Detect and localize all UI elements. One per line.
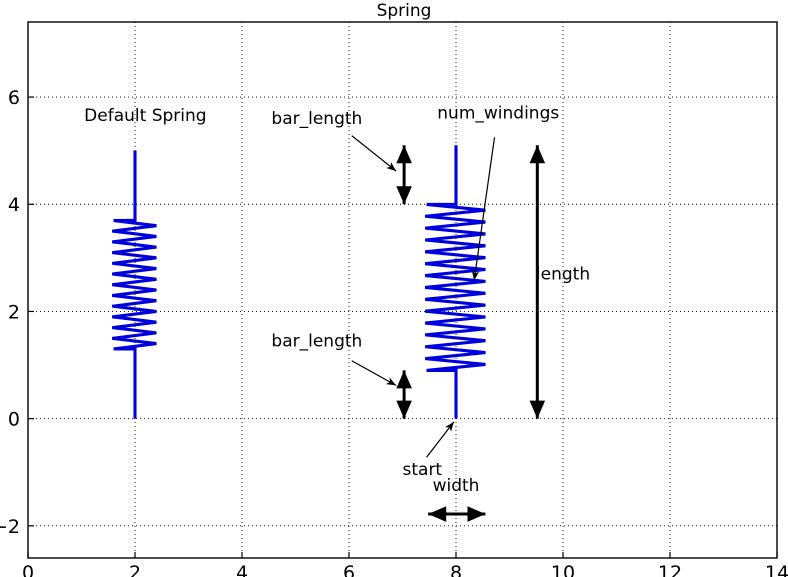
figure-canvas: 02468101214−20246 Default Springbar_leng…: [0, 0, 788, 577]
leader-bar-length-bottom: [352, 361, 396, 386]
annotation-labels: Default Springbar_lengthnum_windingsleng…: [84, 103, 590, 496]
y-tick-label: 6: [8, 87, 20, 109]
x-tick-label: 0: [22, 562, 34, 577]
y-tick-label: 4: [8, 194, 20, 216]
width-label: width: [433, 476, 480, 496]
y-tick-label: 0: [8, 409, 20, 431]
spring-default-spring: [114, 151, 157, 419]
x-tick-label: 6: [343, 562, 355, 577]
x-tick-label: 12: [658, 562, 682, 577]
length-label: length: [536, 264, 590, 284]
x-tick-label: 10: [551, 562, 575, 577]
bar-length-bottom-label: bar_length: [271, 331, 362, 351]
annotation-leaders: [352, 136, 495, 458]
spring-curves: [114, 145, 486, 418]
x-tick-label: 2: [129, 562, 141, 577]
leader-bar-length-top: [352, 136, 396, 171]
num-windings-label: num_windings: [437, 103, 559, 123]
x-tick-label: 8: [450, 562, 462, 577]
spring-plot: 02468101214−20246 Default Springbar_leng…: [0, 0, 788, 577]
y-tick-label: 2: [8, 301, 20, 323]
spring-custom-spring: [427, 145, 486, 418]
bar-length-top-label: bar_length: [271, 109, 362, 129]
leader-start: [427, 422, 454, 457]
x-tick-label: 14: [765, 562, 788, 577]
y-tick-label: −2: [0, 516, 20, 538]
tick-labels: 02468101214−20246: [0, 87, 788, 577]
default-spring-label: Default Spring: [84, 106, 206, 126]
tick-marks: [28, 97, 777, 558]
page-title: Spring: [377, 1, 432, 21]
x-tick-label: 4: [236, 562, 248, 577]
